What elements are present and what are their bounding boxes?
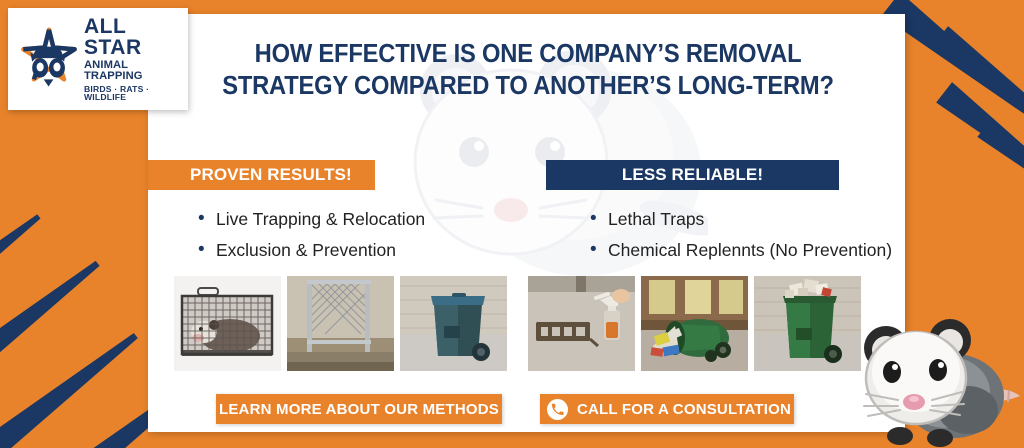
- headline-line-1: HOW EFFECTIVE IS ONE COMPANY’S REMOVAL: [214, 38, 843, 70]
- diagonal-slash-icon: [931, 26, 1024, 165]
- diagonal-slash-icon: [977, 118, 1024, 217]
- photo-chain-link-fence-exclusion: [287, 276, 394, 371]
- cartoon-opossum-mascot-icon: [850, 316, 1022, 448]
- ribbon-proven-results: PROVEN RESULTS!: [148, 160, 375, 190]
- call-consultation-button-label: CALL FOR A CONSULTATION: [577, 401, 791, 418]
- column-less-reliable: LESS RELIABLE! Lethal Traps Chemical Rep…: [528, 160, 905, 271]
- page-title: HOW EFFECTIVE IS ONE COMPANY’S REMOVAL S…: [214, 38, 843, 103]
- learn-more-button-label: LEARN MORE ABOUT OUR METHODS: [219, 401, 499, 418]
- list-item: Exclusion & Prevention: [194, 239, 520, 261]
- content-card: HOW EFFECTIVE IS ONE COMPANY’S REMOVAL S…: [148, 14, 905, 432]
- list-item: Live Trapping & Relocation: [194, 208, 520, 230]
- bullet-list-less-reliable: Lethal Traps Chemical Replennts (No Prev…: [586, 208, 905, 262]
- logo[interactable]: ALL STAR ANIMAL TRAPPING BIRDS · RATS · …: [8, 8, 188, 110]
- photo-lethal-trap-and-spray-bottle: [528, 276, 635, 371]
- diagonal-slash-icon: [0, 208, 46, 318]
- logo-line-1: ALL STAR: [84, 16, 180, 58]
- logo-wordmark: ALL STAR ANIMAL TRAPPING BIRDS · RATS · …: [84, 16, 180, 102]
- photo-secured-garbage-bin: [400, 276, 507, 371]
- photo-tipped-over-bin-spilled-trash: [641, 276, 748, 371]
- raccoon-star-icon: [18, 26, 80, 92]
- learn-more-button[interactable]: LEARN MORE ABOUT OUR METHODS: [216, 394, 502, 424]
- photo-overflowing-garbage-bin: [754, 276, 861, 371]
- ribbon-proven-results-label: PROVEN RESULTS!: [190, 165, 352, 185]
- headline-line-2: STRATEGY COMPARED TO ANOTHER’S LONG-TERM…: [214, 70, 843, 102]
- photo-strip-less-reliable: [528, 276, 861, 371]
- ribbon-less-reliable-label: LESS RELIABLE!: [622, 165, 763, 185]
- logo-line-2: ANIMAL TRAPPING: [84, 60, 180, 82]
- diagonal-slash-icon: [0, 253, 106, 390]
- diagonal-slash-icon: [936, 82, 1024, 201]
- photo-opossum-in-live-cage-trap: [174, 276, 281, 371]
- logo-line-3: BIRDS · RATS · WILDLIFE: [84, 85, 180, 102]
- call-consultation-button[interactable]: CALL FOR A CONSULTATION: [540, 394, 794, 424]
- list-item: Chemical Replennts (No Prevention): [586, 239, 905, 261]
- diagonal-slash-icon: [0, 325, 144, 448]
- column-proven-results: PROVEN RESULTS! Live Trapping & Relocati…: [148, 160, 520, 271]
- bullet-list-proven-results: Live Trapping & Relocation Exclusion & P…: [194, 208, 520, 262]
- ribbon-less-reliable: LESS RELIABLE!: [546, 160, 839, 190]
- list-item: Lethal Traps: [586, 208, 905, 230]
- promo-banner: HOW EFFECTIVE IS ONE COMPANY’S REMOVAL S…: [0, 0, 1024, 448]
- photo-strip-proven-results: [174, 276, 507, 371]
- phone-icon: [547, 399, 568, 420]
